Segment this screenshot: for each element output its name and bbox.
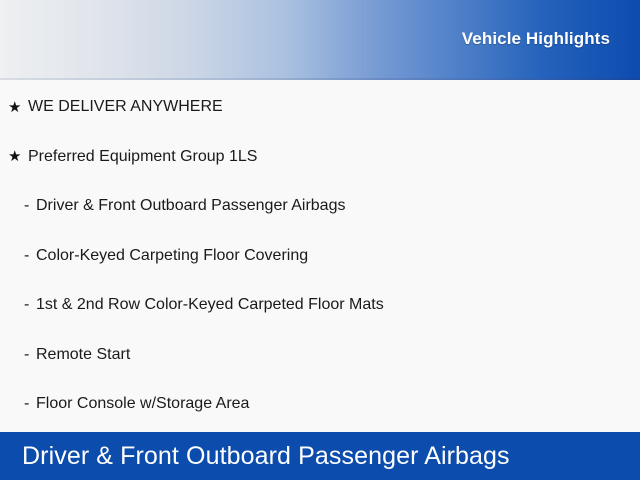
- list-item-label: Preferred Equipment Group 1LS: [28, 148, 257, 166]
- list-item: -Color-Keyed Carpeting Floor Covering: [0, 243, 640, 269]
- list-item: ★Preferred Equipment Group 1LS: [0, 144, 640, 170]
- list-item-label: Color-Keyed Carpeting Floor Covering: [36, 247, 308, 265]
- list-item: -Floor Console w/Storage Area: [0, 391, 640, 417]
- dash-bullet-icon: -: [24, 198, 36, 214]
- list-item: -Remote Start: [0, 342, 640, 368]
- star-bullet-icon: ★: [8, 100, 28, 115]
- list-item: -1st & 2nd Row Color-Keyed Carpeted Floo…: [0, 292, 640, 318]
- list-item-label: WE DELIVER ANYWHERE: [28, 98, 223, 116]
- list-item-label: 1st & 2nd Row Color-Keyed Carpeted Floor…: [36, 296, 384, 314]
- footer-caption-text: Driver & Front Outboard Passenger Airbag…: [0, 442, 510, 471]
- highlights-list: ★WE DELIVER ANYWHERE★Preferred Equipment…: [0, 80, 640, 432]
- list-item: -Driver & Front Outboard Passenger Airba…: [0, 193, 640, 219]
- vehicle-highlights-slide: Vehicle Highlights ★WE DELIVER ANYWHERE★…: [0, 0, 640, 480]
- dash-bullet-icon: -: [24, 396, 36, 412]
- star-bullet-icon: ★: [8, 149, 28, 164]
- list-item-label: Floor Console w/Storage Area: [36, 395, 249, 413]
- dash-bullet-icon: -: [24, 347, 36, 363]
- list-item-label: Remote Start: [36, 346, 130, 364]
- footer-caption-bar: Driver & Front Outboard Passenger Airbag…: [0, 432, 640, 480]
- dash-bullet-icon: -: [24, 297, 36, 313]
- page-title: Vehicle Highlights: [462, 29, 610, 49]
- list-item-label: Driver & Front Outboard Passenger Airbag…: [36, 197, 345, 215]
- dash-bullet-icon: -: [24, 248, 36, 264]
- list-item: ★WE DELIVER ANYWHERE: [0, 94, 640, 120]
